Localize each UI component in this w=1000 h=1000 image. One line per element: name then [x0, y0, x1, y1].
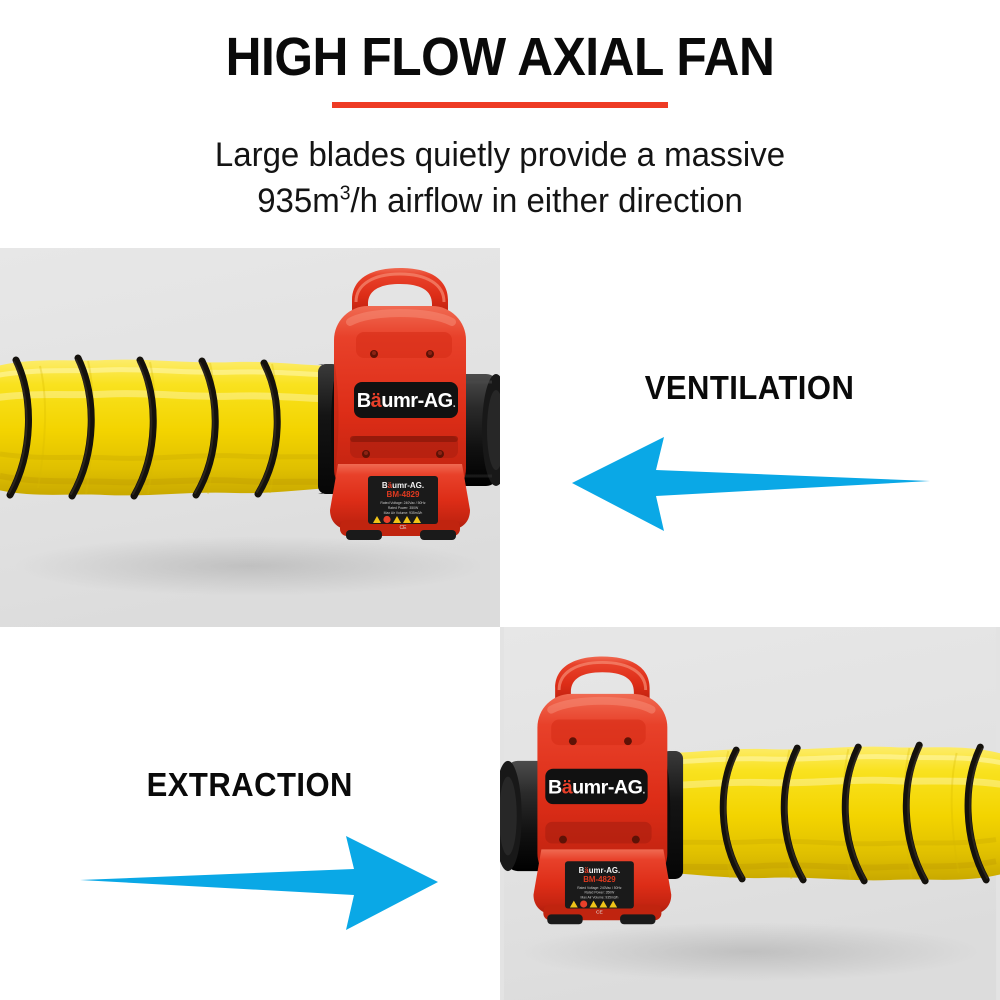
ventilation-label-wrap: VENTILATION [500, 369, 1000, 407]
extraction-arrow-right-icon [78, 822, 438, 942]
brand-badge: Bäumr-AG. [545, 769, 647, 804]
ventilation-photo-artwork: Bäumr-AG. [0, 248, 500, 627]
duct-assembly [0, 358, 330, 496]
product-marketing-image: HIGH FLOW AXIAL FAN Large blades quietly… [0, 0, 1000, 1000]
ventilation-arrow-left-icon [572, 423, 932, 543]
svg-text:CE: CE [596, 909, 604, 915]
ventilation-product-photo: Bäumr-AG. [0, 248, 500, 627]
svg-text:BM-4829: BM-4829 [583, 875, 616, 884]
svg-text:BM-4829: BM-4829 [387, 490, 420, 499]
page-title: HIGH FLOW AXIAL FAN [40, 26, 960, 88]
title-underline-rule [332, 102, 668, 108]
extraction-photo-artwork: Bäumr-AG. Bäumr-AG. BM-4829 Rated Voltag… [500, 627, 1000, 1000]
spec-label: Bäumr-AG. BM-4829 Rated Voltage: 240Vac … [565, 861, 634, 915]
header: HIGH FLOW AXIAL FAN Large blades quietly… [0, 0, 1000, 248]
svg-text:Bäumr-AG.: Bäumr-AG. [357, 390, 456, 412]
svg-text:Bäumr-AG.: Bäumr-AG. [382, 481, 424, 490]
subtitle-cubic-superscript: 3 [340, 183, 351, 205]
svg-text:Rated Voltage: 240Vac / 50Hz: Rated Voltage: 240Vac / 50Hz [577, 886, 622, 890]
svg-text:Rated Voltage: 240Vac / 50Hz: Rated Voltage: 240Vac / 50Hz [380, 501, 425, 505]
subtitle-airflow-value: 935m [257, 182, 340, 220]
svg-text:CE: CE [400, 525, 408, 531]
page-subtitle: Large blades quietly provide a massive 9… [15, 132, 985, 224]
svg-text:Max Air Volume: 935m3/h: Max Air Volume: 935m3/h [384, 511, 423, 515]
svg-text:Rated Power: 350W: Rated Power: 350W [585, 891, 616, 895]
ventilation-label: VENTILATION [645, 369, 855, 407]
extraction-label-wrap: EXTRACTION [0, 766, 500, 804]
subtitle-line-2: 935m3/h airflow in either direction [257, 182, 743, 220]
svg-text:Bäumr-AG.: Bäumr-AG. [579, 866, 621, 875]
subtitle-line-1: Large blades quietly provide a massive [215, 136, 785, 174]
callout-panel-ventilation: VENTILATION [500, 248, 1000, 627]
svg-text:Rated Power: 350W: Rated Power: 350W [388, 506, 419, 510]
svg-text:Bäumr-AG.: Bäumr-AG. [548, 776, 645, 798]
extraction-product-photo: Bäumr-AG. Bäumr-AG. BM-4829 Rated Voltag… [500, 627, 1000, 1000]
svg-text:Max Air Volume: 935m3/h: Max Air Volume: 935m3/h [580, 896, 618, 900]
spec-label: Bäumr-AG. BM-4829 Rated Voltage: 240Vac … [368, 476, 438, 531]
subtitle-line-2-rest: /h airflow in either direction [350, 182, 742, 220]
callout-panel-extraction: EXTRACTION [0, 627, 500, 1000]
duct-assembly [671, 745, 1000, 881]
photo-panel-extraction: Bäumr-AG. Bäumr-AG. BM-4829 Rated Voltag… [500, 627, 1000, 1000]
brand-badge: Bäumr-AG. [354, 382, 458, 418]
extraction-label: EXTRACTION [147, 766, 353, 804]
photo-panel-ventilation: Bäumr-AG. [0, 248, 500, 627]
